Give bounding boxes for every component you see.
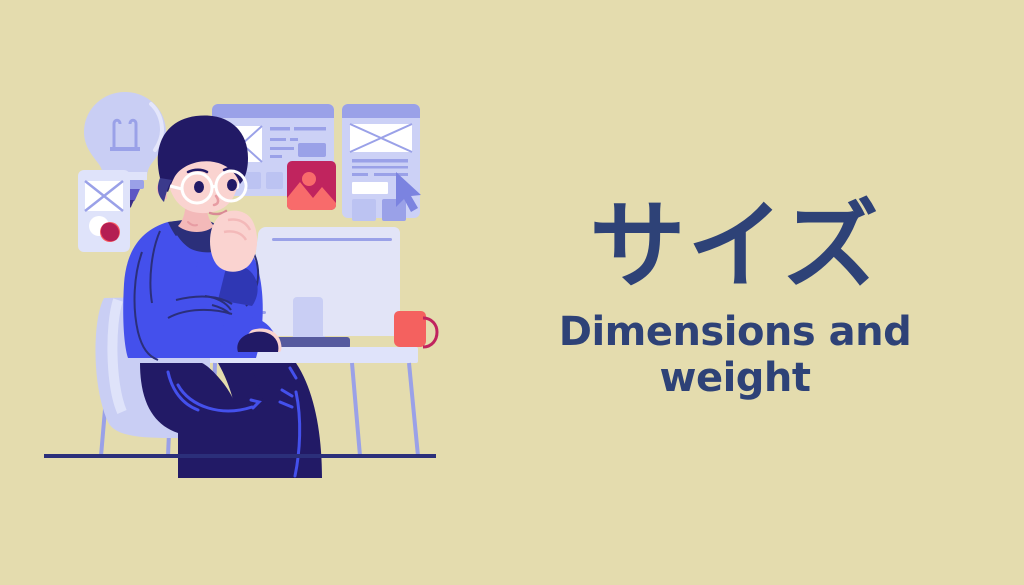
text-block: サイズ Dimensions and weight — [500, 196, 970, 401]
illustration-person-at-desk — [0, 0, 512, 585]
page-subtitle: Dimensions and weight — [500, 309, 970, 401]
page-title: サイズ — [500, 196, 970, 297]
slide-canvas: サイズ Dimensions and weight — [0, 0, 1024, 585]
image-placeholder-card — [287, 161, 336, 210]
coffee-mug — [394, 311, 437, 347]
swatch-card — [78, 170, 130, 252]
